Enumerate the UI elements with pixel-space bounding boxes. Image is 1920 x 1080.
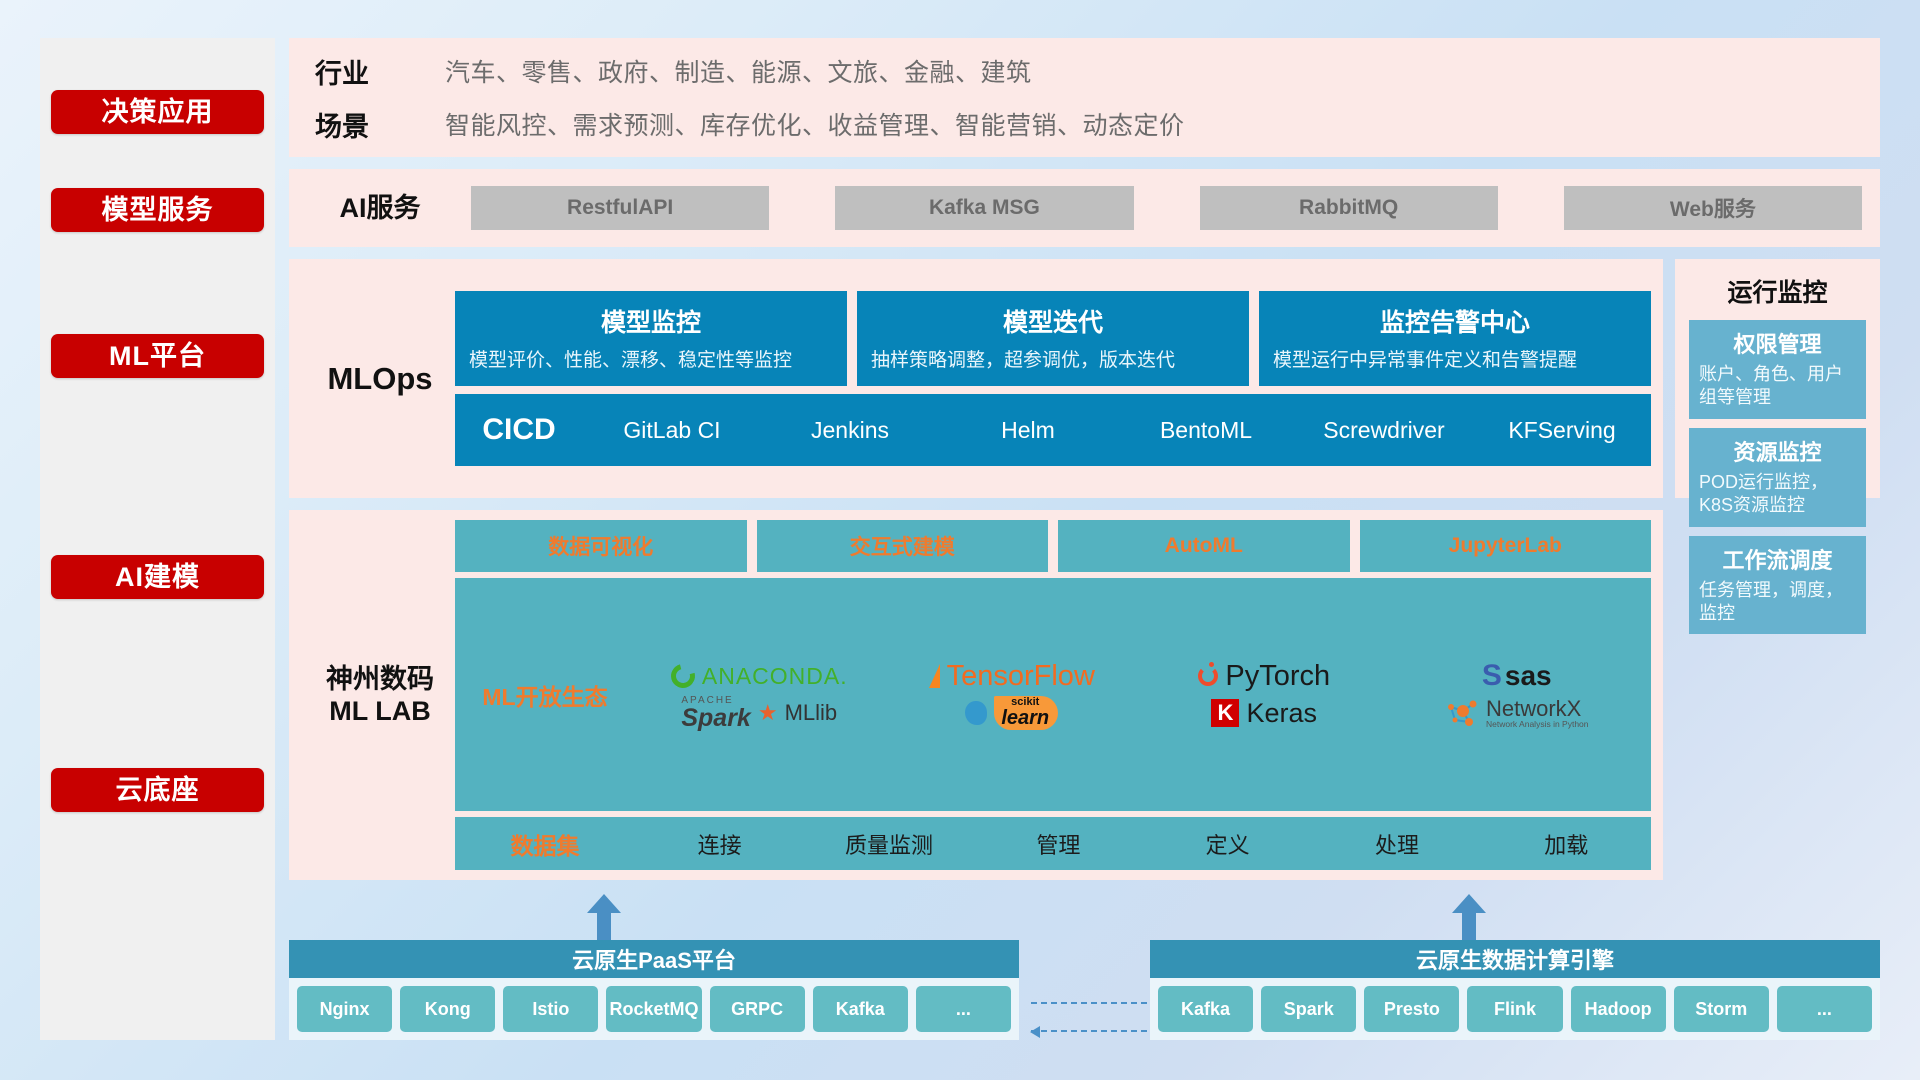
- pytorch-logo: PyTorch: [1198, 660, 1330, 693]
- paas-chip-grpc[interactable]: GRPC: [710, 986, 805, 1032]
- monitoring-card-title: 资源监控: [1699, 435, 1856, 467]
- paas-chip-kafka[interactable]: Kafka: [813, 986, 908, 1032]
- mlops-card-title: 模型监控: [469, 303, 833, 339]
- tool-chip-jupyterlab[interactable]: JupyterLab: [1360, 520, 1652, 572]
- dataset-item-process[interactable]: 处理: [1312, 828, 1481, 860]
- dataset-item-connect[interactable]: 连接: [635, 828, 804, 860]
- ai-service-label: AI服务: [315, 192, 445, 224]
- data-chip-spark[interactable]: Spark: [1261, 986, 1356, 1032]
- cloud-data-engine-title: 云原生数据计算引擎: [1150, 940, 1880, 978]
- paas-chip-rocketmq[interactable]: RocketMQ: [606, 986, 701, 1032]
- sas-logo: S sas: [1482, 660, 1552, 692]
- ml-ecosystem-label: ML开放生态: [455, 678, 635, 712]
- cloud-data-engine-group: 云原生数据计算引擎 Kafka Spark Presto Flink Hadoo…: [1150, 940, 1880, 1040]
- sas-swirl-icon: S: [1482, 661, 1502, 691]
- ai-modeling-band: 神州数码 ML LAB 数据可视化 交互式建模 AutoML JupyterLa…: [289, 510, 1663, 880]
- pytorch-logo-text: PyTorch: [1225, 660, 1330, 693]
- decision-application-band: 行业 汽车、零售、政府、制造、能源、文旅、金融、建筑 场景 智能风控、需求预测、…: [289, 38, 1880, 157]
- tool-chip-automl[interactable]: AutoML: [1058, 520, 1350, 572]
- paas-chip-nginx[interactable]: Nginx: [297, 986, 392, 1032]
- ai-service-chip-rabbitmq[interactable]: RabbitMQ: [1200, 186, 1498, 230]
- scikit-blob-icon: [965, 701, 987, 725]
- dataset-item-load[interactable]: 加载: [1482, 828, 1651, 860]
- industry-values: 汽车、零售、政府、制造、能源、文旅、金融、建筑: [445, 53, 1032, 89]
- paas-chip-istio[interactable]: Istio: [503, 986, 598, 1032]
- cloud-paas-group: 云原生PaaS平台 Nginx Kong Istio RocketMQ GRPC…: [289, 940, 1019, 1040]
- cicd-item-gitlab-ci[interactable]: GitLab CI: [583, 417, 761, 443]
- ml-lab-label: 神州数码 ML LAB: [315, 663, 445, 728]
- mlops-card-title: 监控告警中心: [1273, 303, 1637, 339]
- keras-logo: K Keras: [1211, 698, 1317, 729]
- rail-item-cloud-base[interactable]: 云底座: [51, 768, 264, 812]
- networkx-logo-text: NetworkX: [1486, 697, 1589, 720]
- paas-up-arrow-icon: [587, 894, 621, 940]
- rail-item-decision-app[interactable]: 决策应用: [51, 90, 264, 134]
- runtime-monitoring-panel: 运行监控 权限管理 账户、角色、用户组等管理 资源监控 POD运行监控，K8S资…: [1675, 259, 1880, 498]
- mlops-card-alert-center[interactable]: 监控告警中心 模型运行中异常事件定义和告警提醒: [1259, 291, 1651, 386]
- tensorflow-logo: TensorFlow: [929, 660, 1095, 693]
- dataset-title: 数据集: [455, 827, 635, 861]
- tool-chip-data-visualization[interactable]: 数据可视化: [455, 520, 747, 572]
- mlops-card-title: 模型迭代: [871, 303, 1235, 339]
- data-chip-hadoop[interactable]: Hadoop: [1571, 986, 1666, 1032]
- data-engine-up-arrow-icon: [1452, 894, 1486, 940]
- ai-service-chip-web[interactable]: Web服务: [1564, 186, 1862, 230]
- mlops-card-desc: 模型运行中异常事件定义和告警提醒: [1273, 348, 1637, 374]
- ml-ecosystem-panel: ML开放生态 ANACONDA. TensorFlow: [455, 578, 1651, 811]
- modeling-row-spacer: [1675, 510, 1880, 880]
- scenario-row: 场景 智能风控、需求预测、库存优化、收益管理、智能营销、动态定价: [315, 105, 1864, 144]
- data-chip-presto[interactable]: Presto: [1364, 986, 1459, 1032]
- mlops-card-desc: 模型评价、性能、漂移、稳定性等监控: [469, 348, 833, 374]
- ml-lab-label-line2: ML LAB: [329, 696, 431, 726]
- runtime-monitoring-title: 运行监控: [1689, 269, 1866, 311]
- anaconda-logo-text: ANACONDA.: [702, 663, 848, 690]
- rail-item-ai-modeling[interactable]: AI建模: [51, 555, 264, 599]
- spark-mllib-logo: APACHE Spark ★ MLlib: [681, 696, 837, 731]
- mlops-card-model-iteration[interactable]: 模型迭代 抽样策略调整，超参调优，版本迭代: [857, 291, 1249, 386]
- cicd-title: CICD: [455, 413, 583, 447]
- networkx-tagline: Network Analysis in Python: [1486, 720, 1589, 729]
- data-chip-kafka[interactable]: Kafka: [1158, 986, 1253, 1032]
- rail-item-ml-platform[interactable]: ML平台: [51, 334, 264, 378]
- rail-item-model-service[interactable]: 模型服务: [51, 188, 264, 232]
- spark-logo-text: Spark: [681, 706, 750, 731]
- cicd-item-jenkins[interactable]: Jenkins: [761, 417, 939, 443]
- industry-label: 行业: [315, 52, 445, 91]
- dataset-item-quality[interactable]: 质量监测: [804, 828, 973, 860]
- scenario-values: 智能风控、需求预测、库存优化、收益管理、智能营销、动态定价: [445, 106, 1185, 142]
- monitoring-card-permission[interactable]: 权限管理 账户、角色、用户组等管理: [1689, 320, 1866, 419]
- paas-chip-more[interactable]: ...: [916, 986, 1011, 1032]
- keras-logo-text: Keras: [1246, 698, 1317, 729]
- cicd-strip: CICD GitLab CI Jenkins Helm BentoML Scre…: [455, 394, 1651, 466]
- data-chip-more[interactable]: ...: [1777, 986, 1872, 1032]
- networkx-logo: NetworkX Network Analysis in Python: [1445, 697, 1589, 729]
- cicd-item-kfserving[interactable]: KFServing: [1473, 417, 1651, 443]
- keras-k-icon: K: [1211, 699, 1239, 727]
- cicd-item-helm[interactable]: Helm: [939, 417, 1117, 443]
- pytorch-flame-icon: [1198, 666, 1218, 686]
- architecture-content: 行业 汽车、零售、政府、制造、能源、文旅、金融、建筑 场景 智能风控、需求预测、…: [289, 38, 1880, 1040]
- learn-logo-text: learn: [1001, 708, 1049, 728]
- dataset-strip: 数据集 连接 质量监测 管理 定义 处理 加载: [455, 817, 1651, 870]
- mlops-card-model-monitoring[interactable]: 模型监控 模型评价、性能、漂移、稳定性等监控: [455, 291, 847, 386]
- ai-service-chip-restfulapi[interactable]: RestfulAPI: [471, 186, 769, 230]
- monitoring-card-title: 权限管理: [1699, 327, 1856, 359]
- stage-rail: 决策应用 模型服务 ML平台 AI建模 云底座: [40, 38, 275, 1040]
- cloud-paas-title: 云原生PaaS平台: [289, 940, 1019, 978]
- modeling-tool-row: 数据可视化 交互式建模 AutoML JupyterLab: [455, 520, 1651, 572]
- ml-lab-label-line1: 神州数码: [326, 664, 434, 694]
- dataset-item-manage[interactable]: 管理: [974, 828, 1143, 860]
- scikit-learn-wordmark: scikit learn: [994, 696, 1058, 730]
- mlops-card-desc: 抽样策略调整，超参调优，版本迭代: [871, 348, 1235, 374]
- mlops-band: MLOps 模型监控 模型评价、性能、漂移、稳定性等监控 模型迭代 抽样策略调整…: [289, 259, 1663, 498]
- cicd-item-screwdriver[interactable]: Screwdriver: [1295, 417, 1473, 443]
- scenario-label: 场景: [315, 105, 445, 144]
- tensorflow-mark-icon: [929, 664, 940, 688]
- paas-chip-kong[interactable]: Kong: [400, 986, 495, 1032]
- tensorflow-logo-text: TensorFlow: [947, 660, 1095, 693]
- mllib-logo-text: MLlib: [785, 700, 838, 726]
- anaconda-logo: ANACONDA.: [671, 663, 848, 690]
- anaconda-ring-icon: [666, 660, 699, 693]
- data-chip-storm[interactable]: Storm: [1674, 986, 1769, 1032]
- mlops-label: MLOps: [315, 360, 445, 397]
- cicd-item-bentoml[interactable]: BentoML: [1117, 417, 1295, 443]
- ai-service-band: AI服务 RestfulAPI Kafka MSG RabbitMQ Web服务: [289, 169, 1880, 247]
- tool-chip-interactive-modeling[interactable]: 交互式建模: [757, 520, 1049, 572]
- ai-modeling-row: 神州数码 ML LAB 数据可视化 交互式建模 AutoML JupyterLa…: [289, 510, 1880, 880]
- scikit-learn-logo: scikit learn: [965, 696, 1058, 730]
- networkx-graph-icon: [1445, 698, 1479, 728]
- ai-service-chip-kafka-msg[interactable]: Kafka MSG: [835, 186, 1133, 230]
- ml-platform-row: MLOps 模型监控 模型评价、性能、漂移、稳定性等监控 模型迭代 抽样策略调整…: [289, 259, 1880, 498]
- monitoring-card-desc: 账户、角色、用户组等管理: [1699, 363, 1856, 410]
- spark-star-icon: ★: [758, 700, 778, 726]
- data-chip-flink[interactable]: Flink: [1467, 986, 1562, 1032]
- industry-row: 行业 汽车、零售、政府、制造、能源、文旅、金融、建筑: [315, 52, 1864, 91]
- dataset-item-define[interactable]: 定义: [1143, 828, 1312, 860]
- sas-logo-text: sas: [1505, 660, 1552, 692]
- cloud-foundation-row: 云原生PaaS平台 Nginx Kong Istio RocketMQ GRPC…: [289, 892, 1880, 1040]
